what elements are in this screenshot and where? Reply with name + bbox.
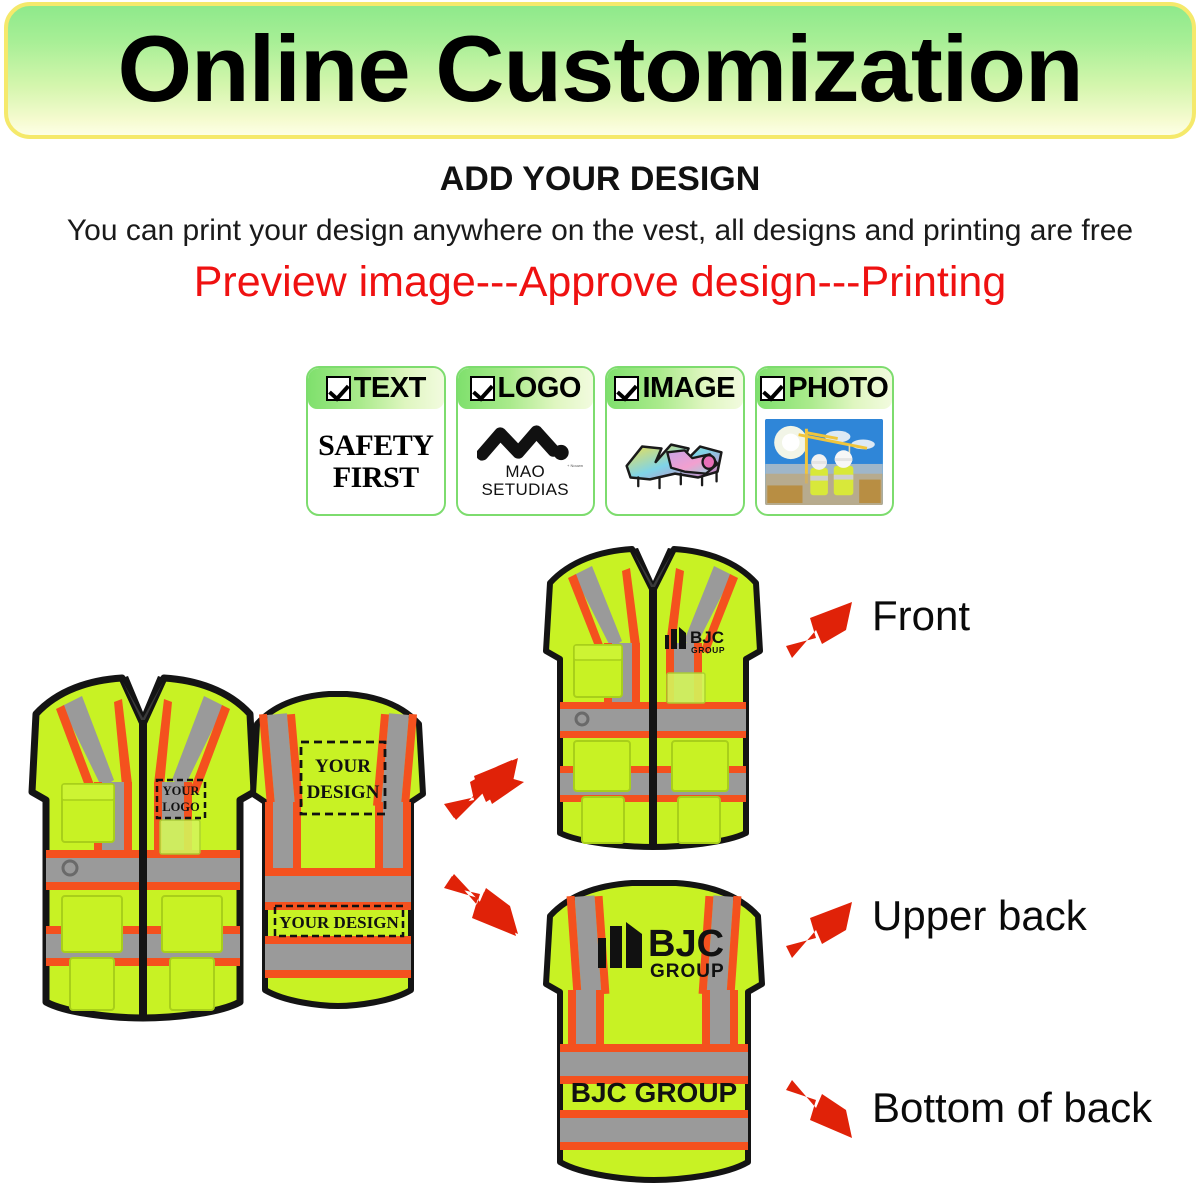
arrow-down-right-icon <box>440 872 530 944</box>
svg-text:DESIGN: DESIGN <box>307 782 380 803</box>
your-design-lower: YOUR DESIGN <box>279 913 399 932</box>
callout-arrow-upper-back-icon <box>782 898 862 960</box>
your-design-upper: YOUR <box>315 756 371 777</box>
your-logo-placeholder: YOUR <box>163 784 201 798</box>
callout-label-bottom-of-back: Bottom of back <box>872 1084 1152 1132</box>
vest-printed-front: BJC GROUP <box>534 545 774 850</box>
svg-text:GROUP: GROUP <box>650 961 725 982</box>
callout-arrow-front-icon <box>782 598 862 660</box>
vest-printed-back: BJC GROUP BJC GROUP <box>534 880 774 1185</box>
svg-text:GROUP: GROUP <box>691 645 725 655</box>
callout-label-front: Front <box>872 592 970 640</box>
svg-text:BJC: BJC <box>648 923 724 965</box>
arrow-up-right-icon <box>440 752 530 822</box>
callout-label-upper-back: Upper back <box>872 892 1087 940</box>
vest-template-back: YOUR DESIGN YOUR DESIGN <box>243 690 433 1010</box>
vest-template-front: YOUR LOGO <box>18 672 268 1022</box>
svg-text:LOGO: LOGO <box>162 800 200 814</box>
bjc-bottom-text: BJC GROUP <box>571 1077 737 1108</box>
callout-arrow-bottom-of-back-icon <box>782 1080 862 1142</box>
vest-diagram: YOUR LOGO <box>0 0 1200 1200</box>
